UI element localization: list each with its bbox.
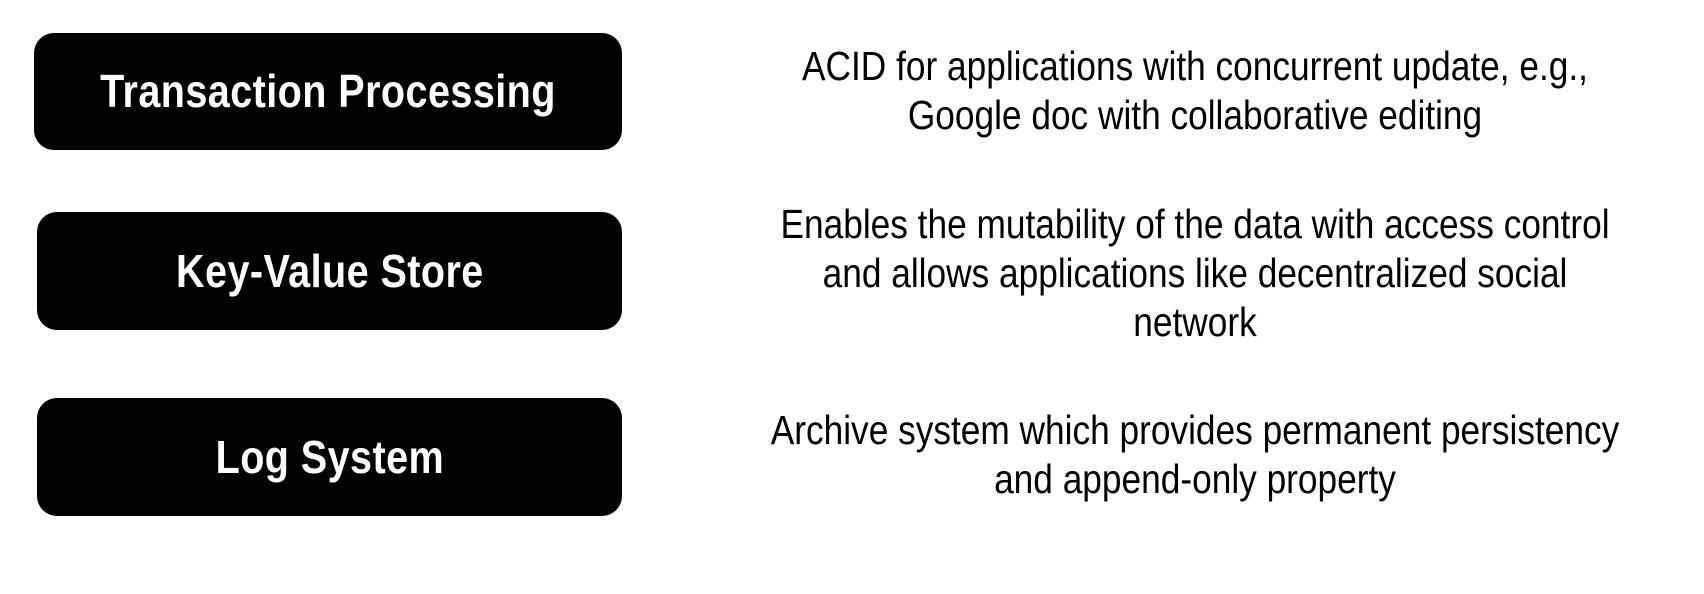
- pill-log-system[interactable]: Log System: [37, 398, 622, 516]
- pill-transaction-processing[interactable]: Transaction Processing: [34, 33, 622, 150]
- description-transaction-processing: ACID for applications with concurrent up…: [769, 42, 1620, 140]
- pill-label-key-value-store: Key-Value Store: [176, 247, 484, 295]
- pill-key-value-store[interactable]: Key-Value Store: [37, 212, 622, 330]
- pill-label-transaction-processing: Transaction Processing: [100, 67, 556, 115]
- description-key-value-store: Enables the mutability of the data with …: [769, 200, 1620, 347]
- slide-canvas: Transaction Processing ACID for applicat…: [0, 0, 1704, 594]
- pill-label-log-system: Log System: [215, 433, 444, 481]
- description-log-system: Archive system which provides permanent …: [769, 406, 1620, 504]
